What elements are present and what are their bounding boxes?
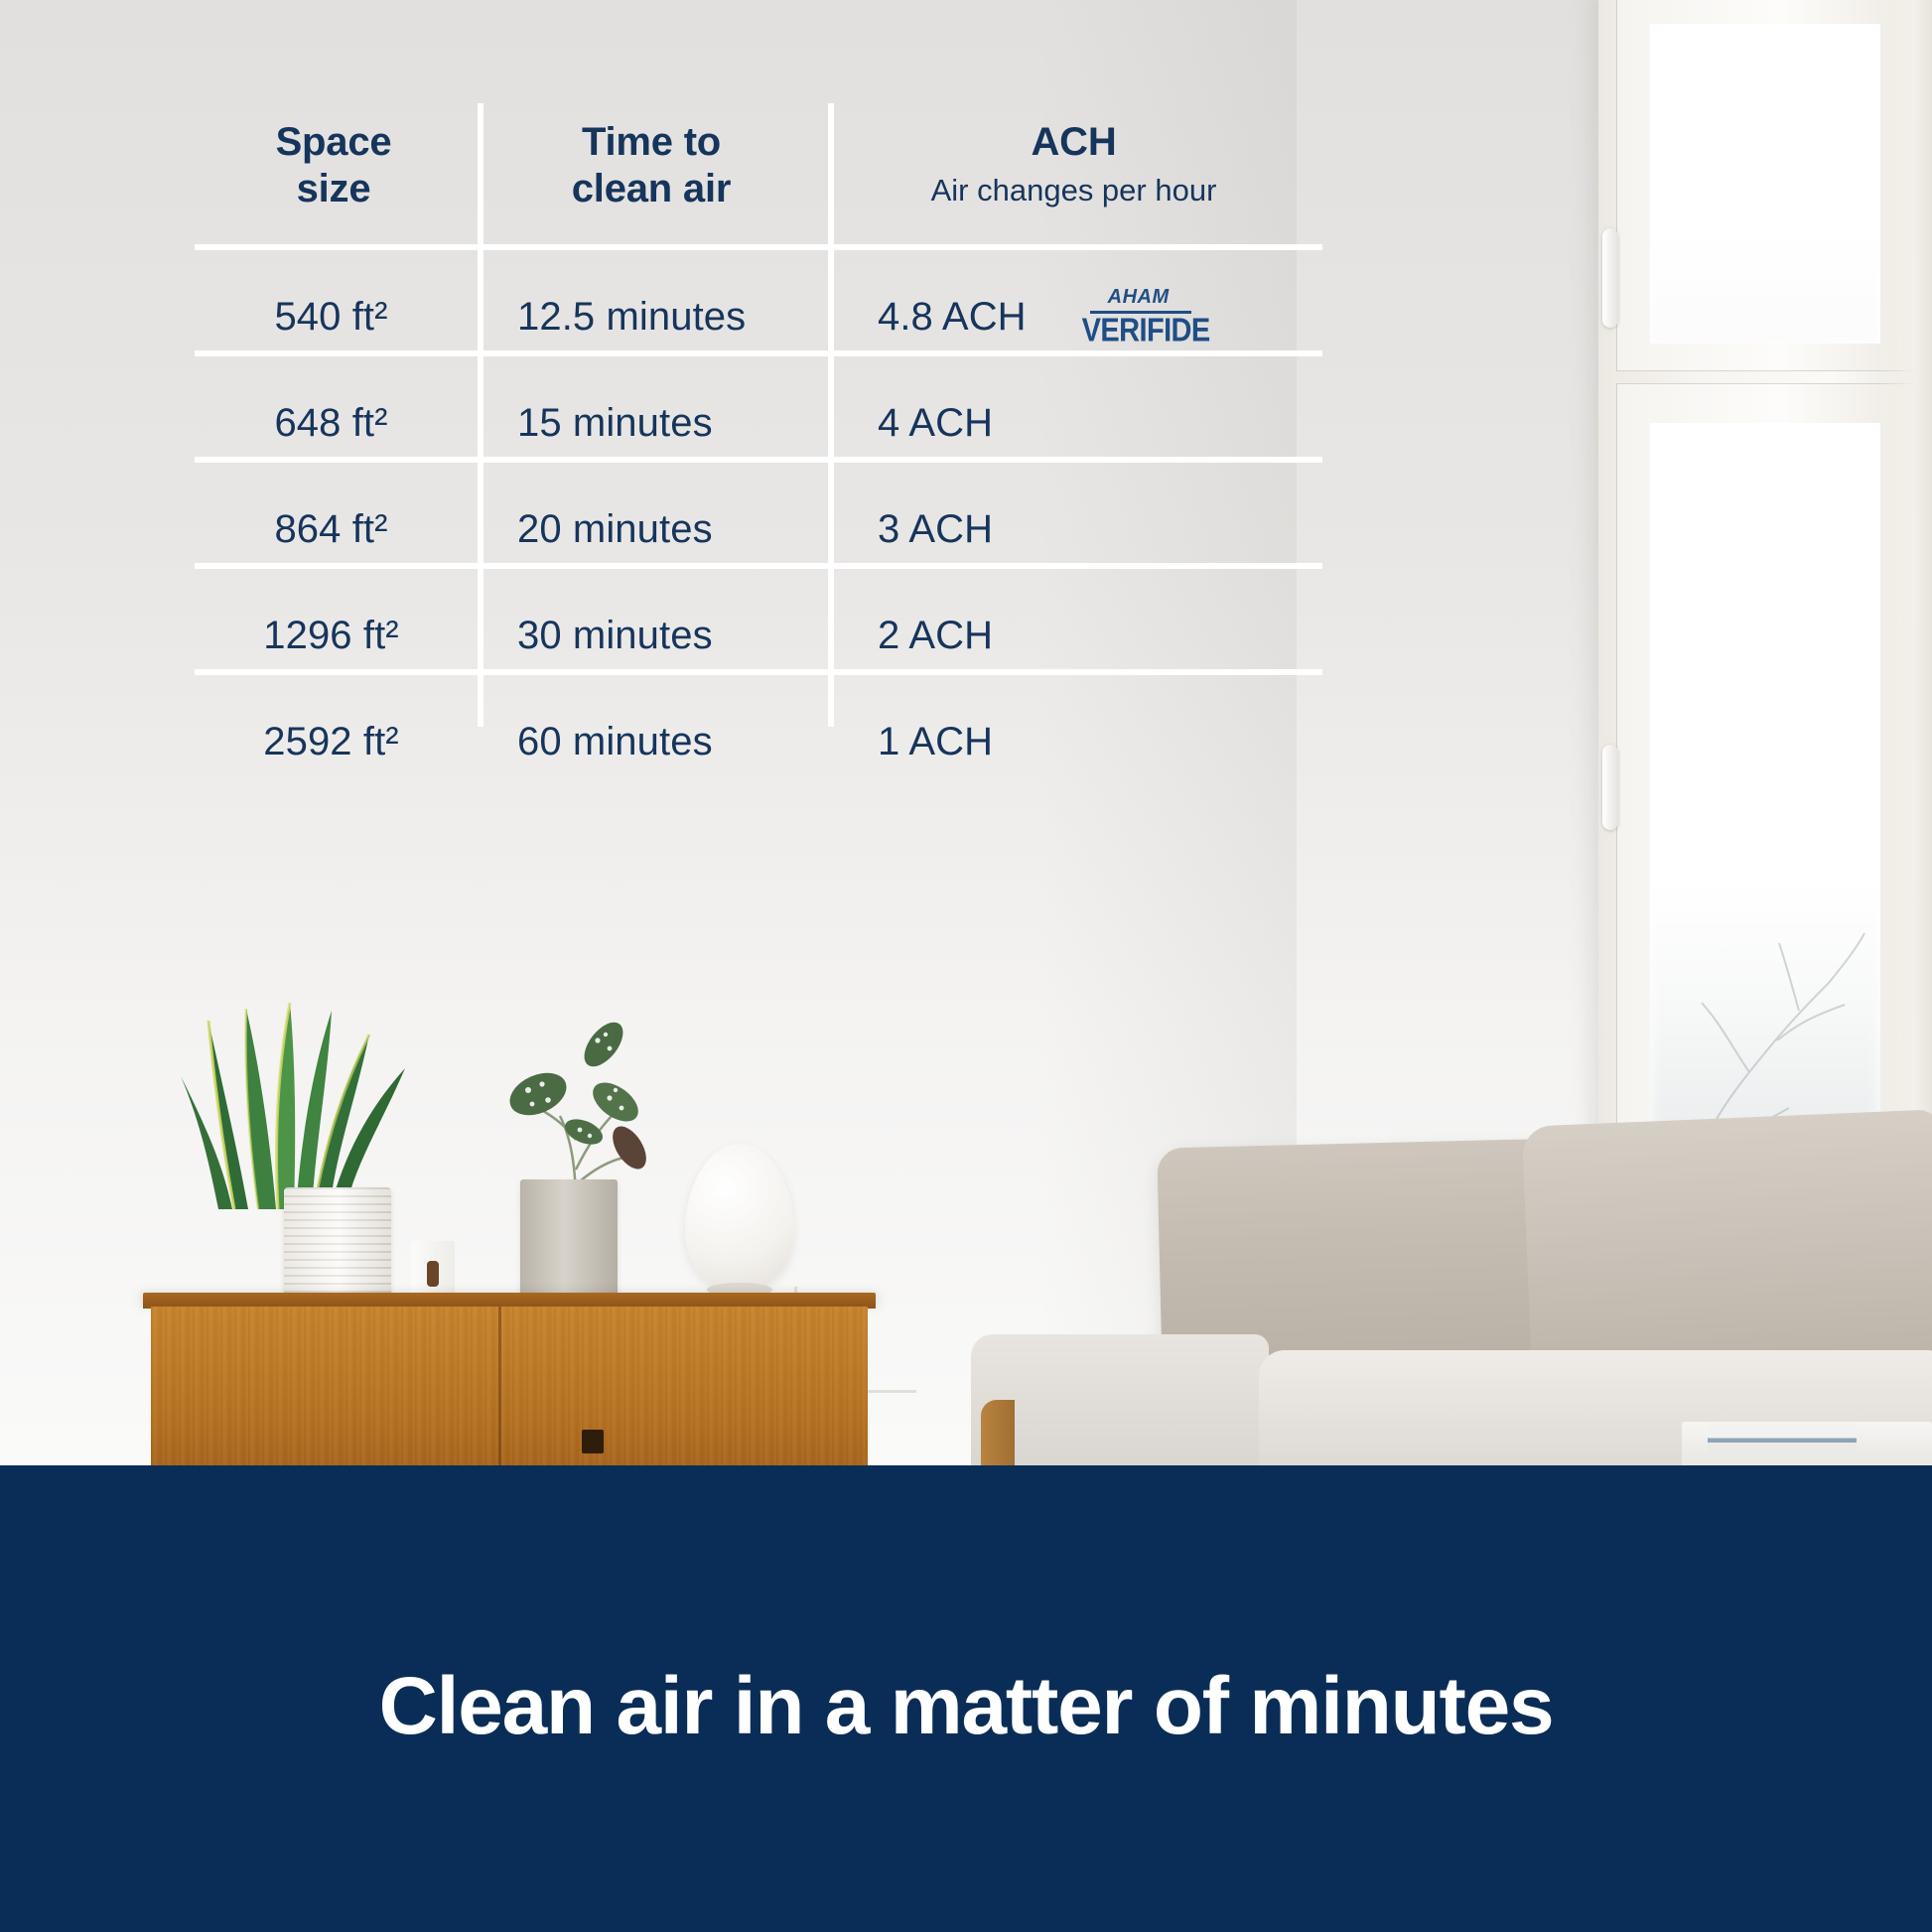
cell-ach-value: 4 ACH xyxy=(878,401,993,446)
cell-space-value: 1296 ft² xyxy=(205,614,458,658)
cell-ach-value: 4.8 ACH xyxy=(878,295,1027,340)
header-ach-subtitle: Air changes per hour xyxy=(878,172,1270,208)
header-space-line1: Space size xyxy=(205,119,463,212)
ribbed-planter xyxy=(284,1187,391,1299)
egg-lamp xyxy=(685,1144,794,1303)
cell-space: 1296 ft² xyxy=(195,614,478,658)
header-ach-title: ACH xyxy=(878,119,1270,166)
ach-table: Space size Time to clean air ACH Air cha… xyxy=(195,103,1322,791)
header-cell-time: Time to clean air xyxy=(478,119,828,212)
sofa-armrest xyxy=(971,1334,1269,1465)
snake-plant xyxy=(175,993,473,1211)
table-row: 2592 ft² 60 minutes 1 ACH xyxy=(195,693,1322,791)
cell-time-value: 12.5 minutes xyxy=(517,295,828,340)
cell-space: 540 ft² xyxy=(195,295,478,340)
cell-time: 15 minutes xyxy=(478,401,828,446)
header-cell-ach: ACH Air changes per hour xyxy=(828,119,1322,208)
small-glass-vase xyxy=(411,1241,455,1299)
table-header-row: Space size Time to clean air ACH Air cha… xyxy=(195,103,1322,260)
sofa xyxy=(971,1140,1932,1465)
sideboard-door-seam xyxy=(498,1307,501,1465)
cell-space-value: 864 ft² xyxy=(205,507,458,552)
header-divider xyxy=(195,244,1322,250)
aham-wordmark: AHAM xyxy=(1108,287,1170,307)
cell-time: 12.5 minutes xyxy=(478,295,828,340)
sideboard-body xyxy=(151,1307,868,1465)
cell-space: 864 ft² xyxy=(195,507,478,552)
window-handle-upper xyxy=(1602,228,1618,328)
sofa-leg xyxy=(981,1400,1015,1465)
cell-time-value: 20 minutes xyxy=(517,507,828,552)
cell-ach-value: 1 ACH xyxy=(878,720,993,764)
cell-time: 30 minutes xyxy=(478,614,828,658)
cell-space: 648 ft² xyxy=(195,401,478,446)
window-handle-lower xyxy=(1602,745,1618,830)
window-pane-upper xyxy=(1650,24,1880,344)
concrete-planter xyxy=(520,1179,618,1299)
lamp-globe xyxy=(685,1144,794,1291)
poster-canvas: Space size Time to clean air ACH Air cha… xyxy=(0,0,1932,1932)
cell-ach: 3 ACH xyxy=(828,507,1322,552)
row-divider-4 xyxy=(195,669,1322,675)
cell-ach: 4.8 ACH AHAM VERIFIDE xyxy=(828,285,1322,350)
sideboard-handle xyxy=(582,1430,604,1453)
header-size-text: size xyxy=(297,167,371,210)
cell-time-value: 60 minutes xyxy=(517,720,828,764)
banner-headline: Clean air in a matter of minutes xyxy=(379,1660,1554,1753)
aham-verifide-logo: AHAM VERIFIDE xyxy=(1066,285,1193,350)
header-time-text: Time to xyxy=(582,120,721,164)
cell-time-value: 15 minutes xyxy=(517,401,828,446)
cell-ach-value: 3 ACH xyxy=(878,507,993,552)
sofa-cushion-right xyxy=(1522,1109,1932,1386)
window xyxy=(1598,0,1932,1281)
cell-space-value: 2592 ft² xyxy=(205,720,458,764)
cell-time-value: 30 minutes xyxy=(517,614,828,658)
book-stack xyxy=(1708,1424,1857,1455)
cell-time: 20 minutes xyxy=(478,507,828,552)
cell-space: 2592 ft² xyxy=(195,720,478,764)
verifide-wordmark: VERIFIDE xyxy=(1082,315,1210,347)
cell-ach: 4 ACH xyxy=(828,401,1322,446)
bottom-banner: Clean air in a matter of minutes xyxy=(0,1465,1932,1932)
row-divider-1 xyxy=(195,350,1322,356)
cell-ach: 2 ACH xyxy=(828,614,1322,658)
cell-ach-value: 2 ACH xyxy=(878,614,993,658)
wooden-sideboard xyxy=(151,1293,868,1465)
row-divider-2 xyxy=(195,457,1322,463)
cell-ach: 1 ACH xyxy=(828,720,1322,764)
header-cleanair-text: clean air xyxy=(572,167,732,210)
row-divider-3 xyxy=(195,563,1322,569)
cell-space-value: 648 ft² xyxy=(205,401,458,446)
cell-space-value: 540 ft² xyxy=(205,295,458,340)
cell-time: 60 minutes xyxy=(478,720,828,764)
header-time-line1: Time to clean air xyxy=(517,119,785,212)
curtain xyxy=(1882,0,1932,1271)
header-space-text: Space xyxy=(276,120,392,164)
header-cell-space: Space size xyxy=(195,119,478,212)
